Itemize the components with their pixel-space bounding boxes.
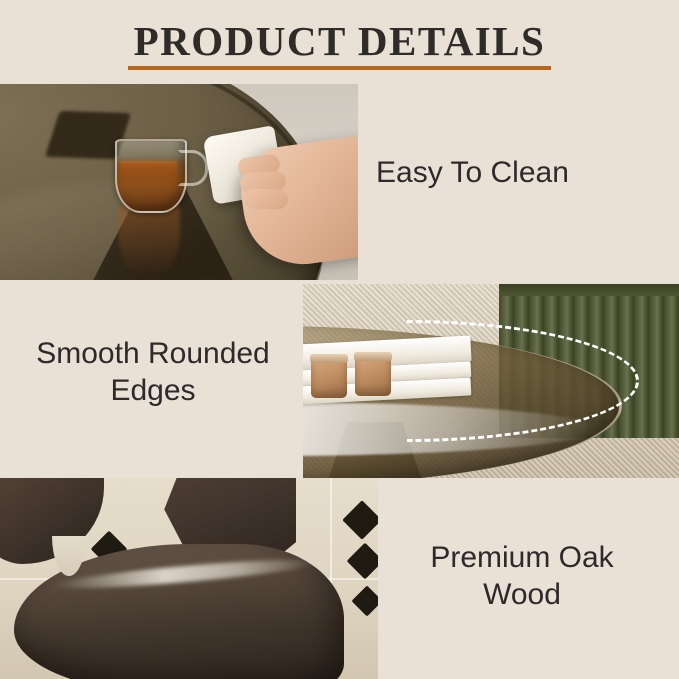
mug-handle	[178, 150, 208, 186]
feature-image-premium-oak-wood	[0, 478, 378, 679]
feature-caption-smooth-rounded-edges: Smooth Rounded Edges	[10, 336, 296, 409]
caption-line: Edges	[10, 373, 296, 410]
curtain-rod-header	[499, 284, 679, 296]
candle	[311, 358, 347, 398]
feature-image-smooth-rounded-edges	[303, 284, 679, 478]
caption-line: Premium Oak	[392, 540, 652, 577]
caption-line: Easy To Clean	[376, 155, 666, 192]
caption-line: Wood	[392, 577, 652, 614]
page-title-container: PRODUCT DETAILS	[0, 20, 679, 70]
feature-image-easy-to-clean	[0, 84, 358, 280]
feature-caption-premium-oak-wood: Premium Oak Wood	[392, 540, 652, 613]
feature-caption-easy-to-clean: Easy To Clean	[376, 155, 666, 192]
product-details-infographic: PRODUCT DETAILS Easy To Clean	[0, 0, 679, 679]
caption-line: Smooth Rounded	[10, 336, 296, 373]
page-title: PRODUCT DETAILS	[128, 20, 552, 70]
candle	[355, 356, 391, 396]
